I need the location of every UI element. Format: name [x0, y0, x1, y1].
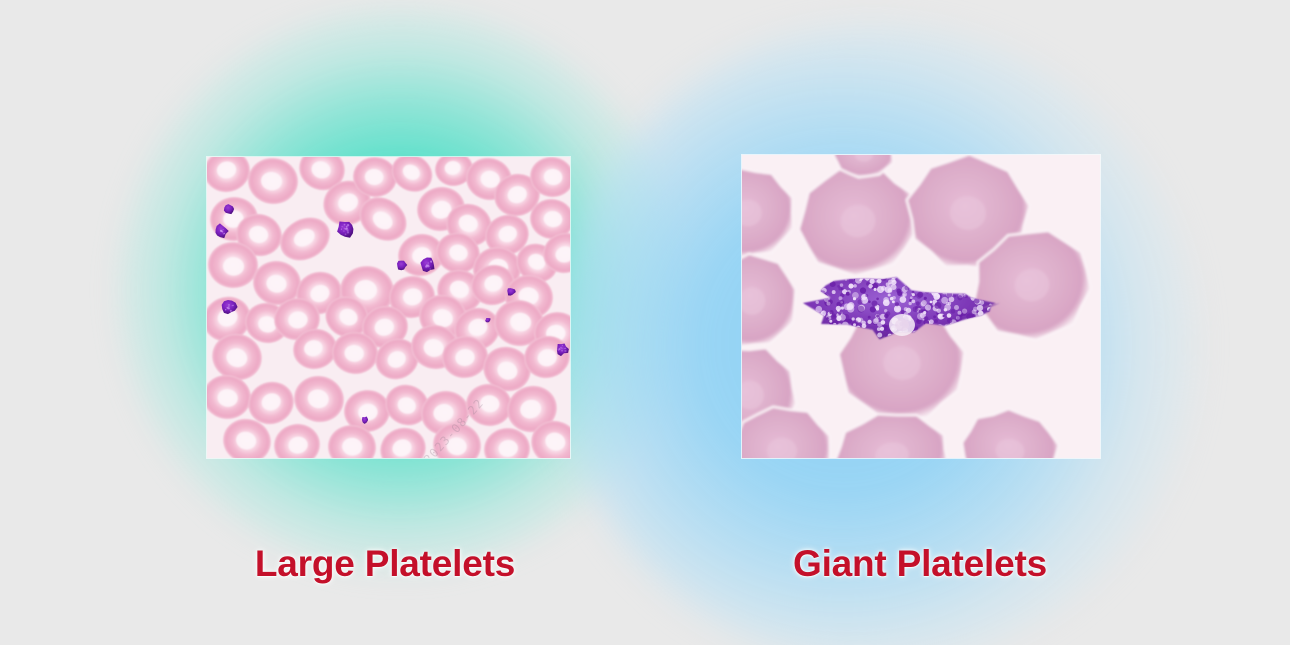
caption-giant-platelets: Giant Platelets — [720, 543, 1120, 585]
giant-platelets-smear — [742, 155, 1100, 458]
large-platelets-smear — [207, 157, 570, 458]
giant-platelets-image — [742, 155, 1100, 458]
caption-large-platelets: Large Platelets — [185, 543, 585, 585]
large-platelets-image: 2023-08-22 — [207, 157, 570, 458]
platelet-comparison-figure: 2023-08-22 — [0, 0, 1290, 645]
